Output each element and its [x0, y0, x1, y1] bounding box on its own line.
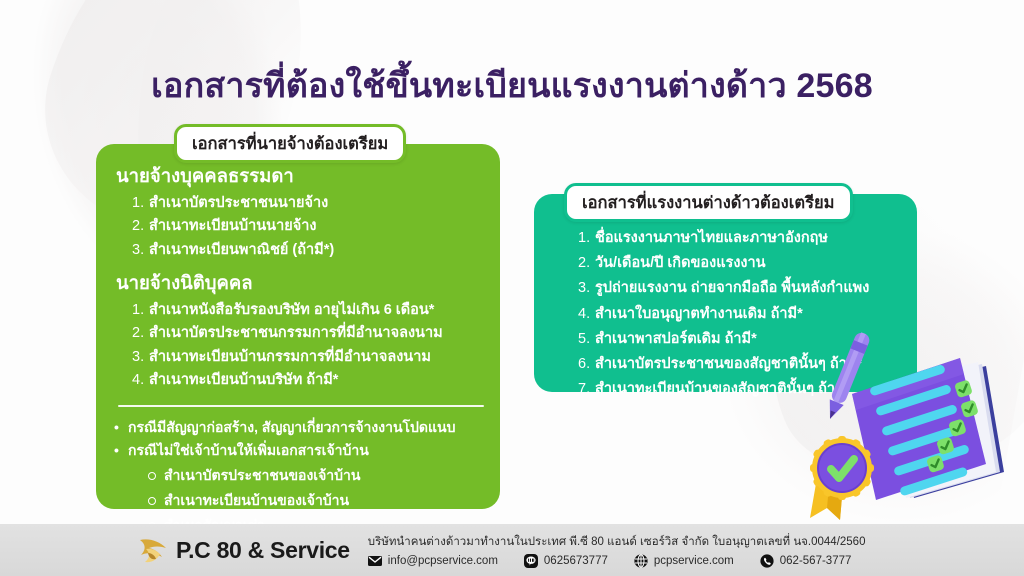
list-item: 3.รูปถ่ายแรงงาน ถ่ายจากมือถือ พื้นหลังกำ…	[578, 276, 910, 301]
contact-row: info@pcpservice.com	[368, 554, 866, 568]
page-title: เอกสารที่ต้องใช้ขึ้นทะเบียนแรงงานต่างด้า…	[0, 58, 1024, 112]
phone-icon	[760, 554, 774, 568]
poster-canvas: เอกสารที่ต้องใช้ขึ้นทะเบียนแรงงานต่างด้า…	[0, 0, 1024, 576]
contact-website[interactable]: pcpservice.com	[634, 554, 734, 568]
list-index: 6.	[578, 352, 595, 377]
list-item-label: ชื่อแรงงานภาษาไทยและภาษาอังกฤษ	[595, 226, 828, 251]
hollow-bullet-icon	[148, 488, 164, 513]
garuda-bird-logo-icon	[136, 533, 170, 567]
list-item-label: สำเนาทะเบียนบ้านบริษัท ถ้ามี*	[149, 369, 338, 392]
contact-phone[interactable]: 062-567-3777	[760, 554, 852, 568]
employer-juristic-list: 1.สำเนาหนังสือรับรองบริษัท อายุไม่เกิน 6…	[132, 299, 488, 393]
list-item: 1.สำเนาหนังสือรับรองบริษัท อายุไม่เกิน 6…	[132, 299, 488, 322]
list-item: สำเนาทะเบียนบ้านของเจ้าบ้าน	[148, 488, 488, 513]
list-item: 2.วัน/เดือน/ปี เกิดของแรงงาน	[578, 251, 910, 276]
list-item-label: สำเนาใบอนุญาตทำงานเดิม ถ้ามี*	[595, 302, 803, 327]
list-index: 3.	[132, 346, 149, 369]
list-item-label: วัน/เดือน/ปี เกิดของแรงงาน	[595, 251, 766, 276]
list-index: 4.	[132, 369, 149, 392]
list-item: 2.สำเนาทะเบียนบ้านนายจ้าง	[132, 215, 488, 238]
list-item-label: สำเนาพาสปอร์ตเดิม ถ้ามี*	[595, 327, 757, 352]
list-index: 1.	[132, 192, 149, 215]
contact-value: pcpservice.com	[654, 555, 734, 567]
list-item-label: สำเนาบัตรประชาชนกรรมการที่มีอำนาจลงนาม	[149, 322, 443, 345]
worker-card-badge: เอกสารที่แรงงานต่างด้าวต้องเตรียม	[564, 183, 853, 222]
list-item: 1.ชื่อแรงงานภาษาไทยและภาษาอังกฤษ	[578, 226, 910, 251]
list-index: 1.	[132, 299, 149, 322]
list-item: 3.สำเนาทะเบียนบ้านกรรมการที่มีอำนาจลงนาม	[132, 346, 488, 369]
section-divider	[118, 405, 484, 407]
list-index: 2.	[132, 215, 149, 238]
company-description: บริษัทนำคนต่างด้าวมาทำงานในประเทศ พี.ซี …	[368, 533, 866, 551]
list-index: 2.	[132, 322, 149, 345]
list-index: 1.	[578, 226, 595, 251]
list-item: 2.สำเนาบัตรประชาชนกรรมการที่มีอำนาจลงนาม	[132, 322, 488, 345]
list-index: 7.	[578, 377, 595, 402]
list-item: 3.สำเนาทะเบียนพาณิชย์ (ถ้ามี*)	[132, 239, 488, 262]
employer-section-heading-individual: นายจ้างบุคคลธรรมดา	[116, 162, 488, 190]
list-item-label: สำเนาบัตรประชาชนนายจ้าง	[149, 192, 328, 215]
list-index: 2.	[578, 251, 595, 276]
employer-card-content: นายจ้างบุคคลธรรมดา 1.สำเนาบัตรประชาชนนาย…	[114, 162, 488, 538]
list-item-label: กรณีมีสัญญาก่อสร้าง, สัญญาเกี่ยวการจ้างง…	[128, 416, 456, 439]
list-item-label: สำเนาหนังสือรับรองบริษัท อายุไม่เกิน 6 เ…	[149, 299, 434, 322]
hollow-bullet-icon	[148, 463, 164, 488]
contact-value: info@pcpservice.com	[388, 555, 498, 567]
list-item-label: สำเนาทะเบียนบ้านกรรมการที่มีอำนาจลงนาม	[149, 346, 431, 369]
website-icon	[634, 554, 648, 568]
list-item-label: สำเนาทะเบียนบ้านนายจ้าง	[149, 215, 316, 238]
employer-notes-list: • กรณีมีสัญญาก่อสร้าง, สัญญาเกี่ยวการจ้า…	[114, 416, 488, 462]
footer-bar: P.C 80 & Service บริษัทนำคนต่างด้าวมาทำง…	[0, 524, 1024, 576]
contact-line[interactable]: 0625673777	[524, 554, 608, 568]
employer-individual-list: 1.สำเนาบัตรประชาชนนายจ้าง 2.สำเนาทะเบียน…	[132, 192, 488, 262]
bullet-dot-icon: •	[114, 416, 128, 439]
award-badge-icon	[810, 436, 874, 520]
list-item: 1.สำเนาบัตรประชาชนนายจ้าง	[132, 192, 488, 215]
employer-section-heading-juristic: นายจ้างนิติบุคคล	[116, 269, 488, 297]
list-index: 3.	[578, 276, 595, 301]
contact-email[interactable]: info@pcpservice.com	[368, 554, 498, 568]
list-index: 4.	[578, 302, 595, 327]
list-item: • กรณีไม่ใช่เจ้าบ้านให้เพิ่มเอกสารเจ้าบ้…	[114, 439, 488, 462]
list-item: สำเนาบัตรประชาชนของเจ้าบ้าน	[148, 463, 488, 488]
list-item-label: รูปถ่ายแรงงาน ถ่ายจากมือถือ พื้นหลังกำแพ…	[595, 276, 869, 301]
checklist-clipboard-illustration	[790, 322, 1015, 522]
list-item: 4.สำเนาทะเบียนบ้านบริษัท ถ้ามี*	[132, 369, 488, 392]
employer-card-badge: เอกสารที่นายจ้างต้องเตรียม	[174, 124, 406, 163]
list-item-label: กรณีไม่ใช่เจ้าบ้านให้เพิ่มเอกสารเจ้าบ้าน	[128, 439, 369, 462]
list-item-label: สำเนาทะเบียนพาณิชย์ (ถ้ามี*)	[149, 239, 334, 262]
list-item: • กรณีมีสัญญาก่อสร้าง, สัญญาเกี่ยวการจ้า…	[114, 416, 488, 439]
brand-block: P.C 80 & Service	[136, 533, 350, 567]
line-icon	[524, 554, 538, 568]
brand-name: P.C 80 & Service	[176, 537, 350, 564]
list-item-label: สำเนาทะเบียนบ้านของเจ้าบ้าน	[164, 488, 349, 513]
footer-info: บริษัทนำคนต่างด้าวมาทำงานในประเทศ พี.ซี …	[368, 533, 866, 568]
list-item-label: สำเนาบัตรประชาชนของเจ้าบ้าน	[164, 463, 360, 488]
list-index: 3.	[132, 239, 149, 262]
email-icon	[368, 554, 382, 568]
bullet-dot-icon: •	[114, 439, 128, 462]
contact-value: 0625673777	[544, 555, 608, 567]
list-index: 5.	[578, 327, 595, 352]
contact-value: 062-567-3777	[780, 555, 852, 567]
